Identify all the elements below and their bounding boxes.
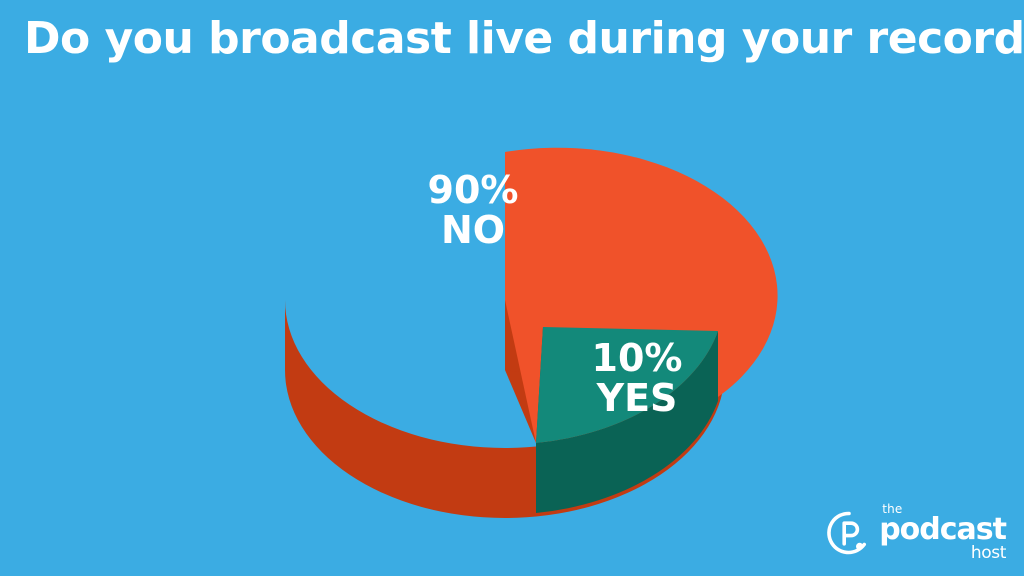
pie-slice-yes-value: 10% bbox=[592, 336, 683, 380]
pie-slice-no-category: NO bbox=[441, 208, 505, 252]
pie-slice-yes-category: YES bbox=[596, 376, 678, 420]
podcast-host-logo-text: the podcast host bbox=[879, 503, 1006, 562]
logo-line-host: host bbox=[879, 545, 1006, 562]
logo-line-podcast: podcast bbox=[879, 516, 1006, 544]
pie-slice-yes-label: 10% YES bbox=[592, 336, 683, 420]
pie-slice-no-value: 90% bbox=[428, 168, 519, 212]
podcast-host-logo-mark bbox=[826, 510, 872, 556]
poster-canvas: Do you broadcast live during your record… bbox=[0, 0, 1024, 576]
pie-slice-no-label: 90% NO bbox=[428, 168, 519, 252]
pie-chart-3d: 90% NO 10% YES bbox=[0, 0, 1024, 576]
podcast-host-logo[interactable]: the podcast host bbox=[826, 503, 1006, 562]
